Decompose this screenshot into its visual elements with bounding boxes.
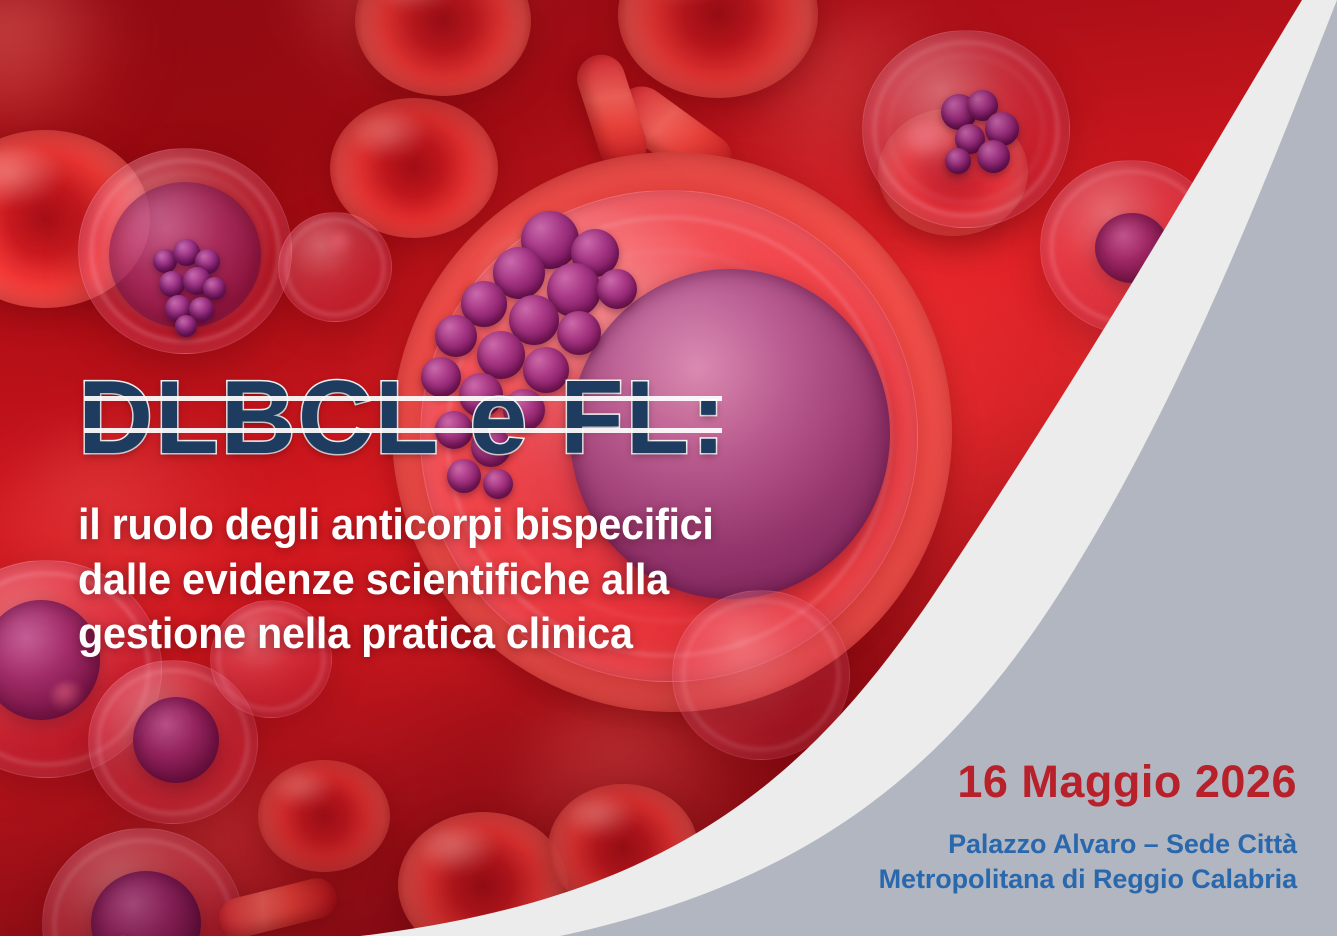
nucleus-lobe-cluster bbox=[151, 239, 237, 335]
subtitle-line-3: gestione nella pratica clinica bbox=[78, 607, 924, 662]
page-title-text: DLBCL e FL: bbox=[78, 360, 728, 476]
lymphocyte-cell bbox=[78, 148, 292, 354]
nucleus-lobe-cluster bbox=[941, 90, 1031, 180]
venue-line-1: Palazzo Alvaro – Sede Città bbox=[879, 827, 1297, 862]
red-blood-cell bbox=[258, 760, 390, 872]
page-subtitle: il ruolo degli anticorpi bispecifici dal… bbox=[78, 498, 924, 662]
page-title: DLBCL e FL: bbox=[78, 366, 728, 470]
lymphocyte-cell bbox=[862, 30, 1070, 228]
venue-line-2: Metropolitana di Reggio Calabria bbox=[879, 862, 1297, 897]
subtitle-line-2: dalle evidenze scientifiche alla bbox=[78, 553, 924, 608]
cytoplasm-granule bbox=[51, 682, 85, 712]
subtitle-line-1: il ruolo degli anticorpi bispecifici bbox=[78, 498, 924, 553]
event-venue: Palazzo Alvaro – Sede Città Metropolitan… bbox=[879, 827, 1297, 897]
event-date: 16 Maggio 2026 bbox=[957, 756, 1297, 808]
red-blood-cell bbox=[548, 784, 698, 912]
event-poster: DLBCL e FL: il ruolo degli anticorpi bis… bbox=[0, 0, 1337, 936]
cell-nucleus bbox=[133, 697, 219, 783]
lymphocyte-cell bbox=[278, 212, 392, 322]
lymphocyte-cell bbox=[1118, 250, 1300, 424]
cell-membrane-rim bbox=[1128, 260, 1290, 415]
